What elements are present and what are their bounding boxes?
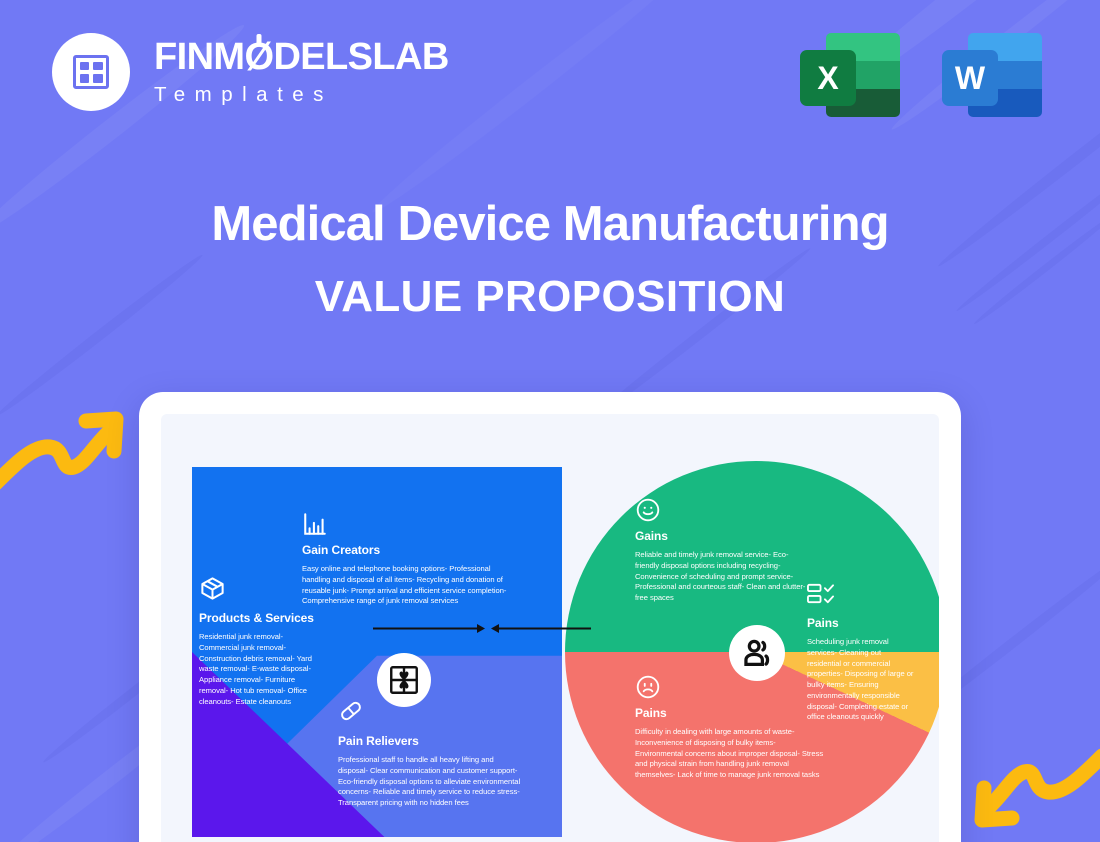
block-gains: Gains Reliable and timely junk removal s… [635, 529, 812, 604]
checklist-icon [807, 583, 836, 610]
value-map-panel: Gain Creators Easy online and telephone … [192, 467, 562, 837]
format-badges: X W [800, 33, 1042, 117]
box-icon [199, 575, 226, 607]
page-title: Medical Device Manufacturing [0, 196, 1100, 252]
block-heading: Gains [635, 529, 812, 543]
block-gain-creators: Gain Creators Easy online and telephone … [302, 543, 519, 607]
page-subtitle: VALUE PROPOSITION [0, 272, 1100, 322]
squiggle-arrow-up-right-icon [0, 405, 124, 496]
double-arrow-connector [373, 620, 591, 629]
slide-canvas: FINMØDELSLAB Templates X W Medical Devic… [0, 0, 1100, 842]
pill-icon [338, 698, 364, 729]
block-body: Professional staff to handle all heavy l… [338, 755, 524, 809]
block-body: Reliable and timely junk removal service… [635, 550, 812, 604]
block-body: Difficulty in dealing with large amounts… [635, 727, 825, 781]
smiley-sad-icon [635, 674, 661, 705]
block-pain-relievers: Pain Relievers Professional staff to han… [338, 734, 524, 809]
laptop-mockup: Gain Creators Easy online and telephone … [139, 392, 961, 842]
block-heading: Pain Relievers [338, 734, 524, 748]
brand-name: FINMØDELSLAB [154, 38, 449, 76]
grid-logo-icon [52, 33, 130, 111]
people-icon [729, 625, 785, 681]
gift-icon [377, 653, 431, 707]
block-body: Easy online and telephone booking option… [302, 564, 519, 607]
block-heading: Gain Creators [302, 543, 519, 557]
block-heading: Products & Services [199, 611, 323, 625]
smiley-happy-icon [635, 497, 661, 528]
brand-tagline: Templates [154, 83, 449, 107]
word-icon-letter: W [942, 50, 998, 106]
block-products-services: Products & Services Residential junk rem… [199, 611, 323, 707]
bar-chart-icon [302, 511, 328, 542]
squiggle-arrow-down-left-icon [974, 748, 1100, 839]
block-body: Residential junk removal- Commercial jun… [199, 632, 323, 707]
excel-icon-letter: X [800, 50, 856, 106]
slide-screen: Gain Creators Easy online and telephone … [161, 414, 939, 842]
block-heading: Pains [635, 706, 825, 720]
excel-icon: X [800, 33, 900, 117]
block-heading: Pains [807, 616, 917, 630]
block-pains: Pains Difficulty in dealing with large a… [635, 706, 825, 781]
brand-logo: FINMØDELSLAB Templates [52, 33, 449, 111]
word-icon: W [942, 33, 1042, 117]
customer-profile-panel: Gains Reliable and timely junk removal s… [565, 461, 939, 842]
